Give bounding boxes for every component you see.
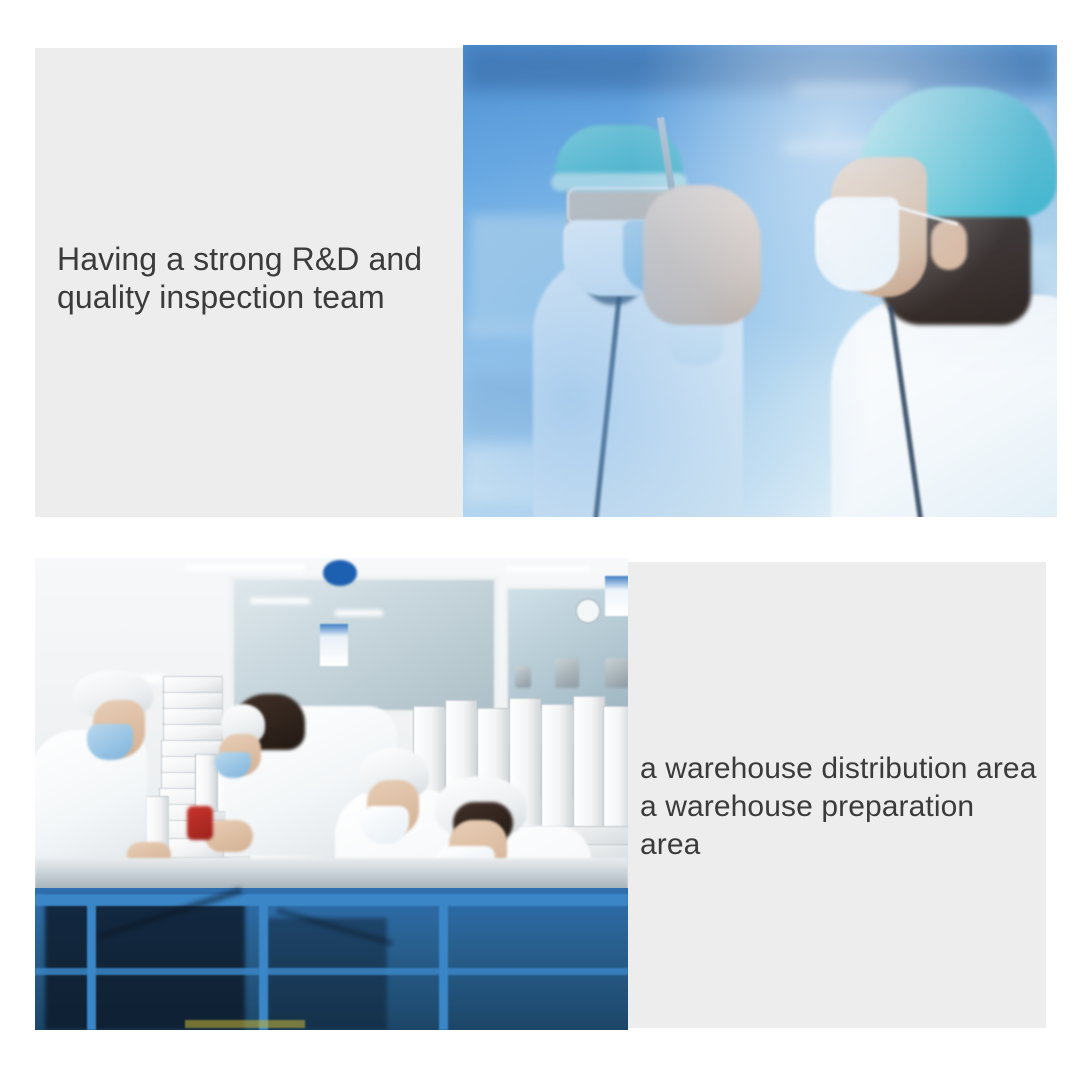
caption-warehouse: a warehouse distribution area a warehous…	[640, 750, 1040, 864]
photo-lab-inspection	[463, 45, 1057, 517]
section-warehouse: a warehouse distribution area a warehous…	[35, 558, 1046, 1030]
section-rd-quality: Having a strong R&D and quality inspecti…	[35, 45, 1057, 517]
caption-rd-quality: Having a strong R&D and quality inspecti…	[57, 240, 457, 316]
photo-warehouse-packing	[35, 558, 628, 1030]
